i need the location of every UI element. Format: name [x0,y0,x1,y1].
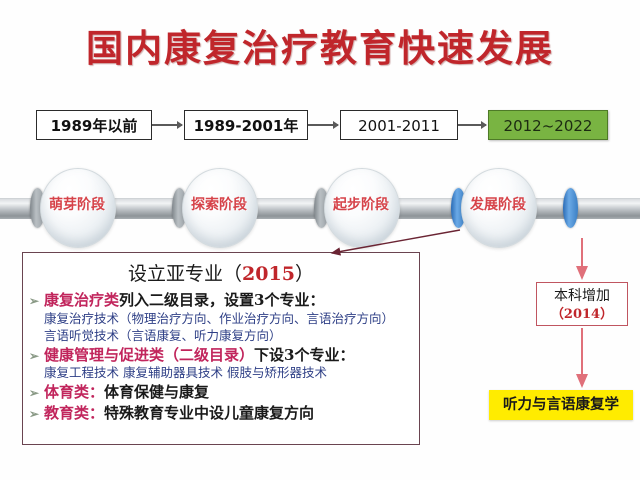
bullet-rest-3: 体育保健与康复 [104,383,209,403]
audiology-speech-box[interactable]: 听力与言语康复学 [489,390,633,420]
content-heading-text: 设立亚专业（ [128,263,242,285]
content-block-1: ➢ 康复治疗类 列入二级目录，设置3个专业： 康复治疗技术（物理治疗方向、作业治… [29,291,413,345]
bullet-highlight-3: 体育类： [44,383,104,403]
bullet-marker-icon: ➢ [29,294,44,310]
bullet-highlight-1: 康复治疗类 [44,291,119,311]
bullet-rest-4: 特殊教育专业中设儿童康复方向 [104,404,314,424]
undergrad-line-2: （2014） [537,306,627,325]
bullet-marker-icon: ➢ [29,407,44,423]
content-heading: 设立亚专业（2015） [29,259,413,286]
undergrad-line-1: 本科增加 [537,286,627,306]
subline-1-1: 康复治疗技术（物理治疗方向、作业治疗方向、言语治疗方向） [44,311,413,328]
slide-canvas: 国内康复治疗教育快速发展 1989年以前 1989-2001年 2001-201… [0,0,640,480]
subline-2-1: 康复工程技术 康复辅助器具技术 假肢与矫形器技术 [44,365,413,382]
pipeline-collar-4b [563,188,578,228]
bullet-rest-2: 下设3个专业： [254,346,354,366]
timeline-connector-2 [308,124,338,126]
content-heading-tail: ） [295,263,314,285]
timeline-box-3[interactable]: 2001-2011 [340,110,458,140]
pipeline-node-1[interactable] [40,168,116,248]
content-block-4: ➢ 教育类： 特殊教育专业中设儿童康复方向 [29,404,413,424]
undergrad-increase-box[interactable]: 本科增加 （2014） [536,282,628,326]
timeline-box-2[interactable]: 1989-2001年 [184,110,308,140]
page-title: 国内康复治疗教育快速发展 [0,18,640,72]
timeline-connector-1 [152,124,182,126]
bullet-line-2: ➢ 健康管理与促进类（二级目录） 下设3个专业： [29,346,413,366]
content-block-2: ➢ 健康管理与促进类（二级目录） 下设3个专业： 康复工程技术 康复辅助器具技术… [29,346,413,383]
bullet-line-4: ➢ 教育类： 特殊教育专业中设儿童康复方向 [29,404,413,424]
bullet-rest-1: 列入二级目录，设置3个专业： [119,291,324,311]
content-heading-year: 2015 [242,263,295,285]
bullet-highlight-4: 教育类： [44,404,104,424]
timeline-box-1[interactable]: 1989年以前 [36,110,152,140]
content-panel: 设立亚专业（2015） ➢ 康复治疗类 列入二级目录，设置3个专业： 康复治疗技… [22,252,420,445]
pipeline-node-3[interactable] [324,168,400,248]
bullet-highlight-2: 健康管理与促进类（二级目录） [44,346,254,366]
timeline-row: 1989年以前 1989-2001年 2001-2011 2012~2022 [36,110,608,142]
bullet-line-3: ➢ 体育类： 体育保健与康复 [29,383,413,403]
timeline-box-4[interactable]: 2012~2022 [488,110,608,140]
subline-1-2: 言语听觉技术（言语康复、听力康复方向） [44,328,413,345]
pipeline-graphic: 萌芽阶段 探索阶段 起步阶段 发展阶段 [0,166,640,250]
bullet-marker-icon: ➢ [29,386,44,402]
bullet-line-1: ➢ 康复治疗类 列入二级目录，设置3个专业： [29,291,413,311]
pipeline-node-4[interactable] [461,168,537,248]
timeline-connector-3 [458,124,486,126]
content-block-3: ➢ 体育类： 体育保健与康复 [29,383,413,403]
pipeline-node-2[interactable] [182,168,258,248]
bullet-marker-icon: ➢ [29,349,44,365]
